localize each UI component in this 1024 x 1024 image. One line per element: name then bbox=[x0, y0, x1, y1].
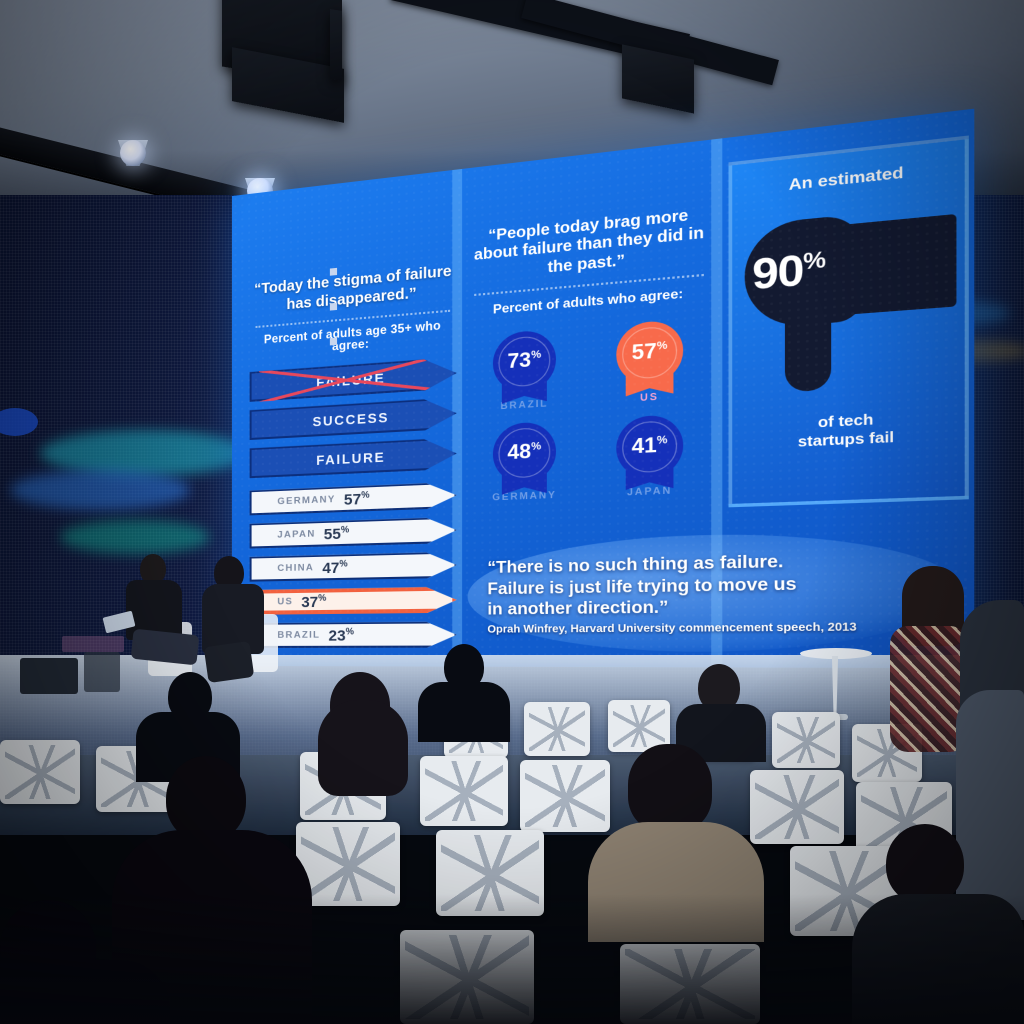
table-row: JAPAN 55% bbox=[250, 517, 457, 549]
hashtag-banner bbox=[62, 636, 124, 652]
badge-germany: 48% GERMANY bbox=[492, 421, 556, 502]
speaker-right-legs bbox=[204, 641, 255, 683]
conference-photo: “Today the stigma of failure has disappe… bbox=[0, 0, 1024, 1024]
signpost-post-1 bbox=[330, 268, 337, 276]
badge-us: 57% US bbox=[616, 319, 683, 404]
country-value: 47% bbox=[322, 558, 347, 577]
middle-panel-quote: “People today brag more about failure th… bbox=[468, 205, 712, 285]
list-item bbox=[420, 756, 508, 826]
country-label: JAPAN bbox=[277, 529, 315, 541]
thumbs-down-icon: 90% bbox=[732, 180, 964, 418]
audience-member-hair bbox=[318, 700, 408, 796]
list-item bbox=[750, 770, 844, 844]
signpost-group: FAILURE SUCCESS FAILURE bbox=[250, 357, 457, 478]
quote-attribution: Oprah Winfrey, Harvard University commen… bbox=[487, 620, 941, 635]
audience-member-body bbox=[852, 894, 1024, 1024]
signpost-label: SUCCESS bbox=[313, 409, 390, 429]
presentation-slide: “Today the stigma of failure has disappe… bbox=[232, 109, 974, 669]
stat-value: 90% bbox=[752, 245, 825, 300]
stage-monitor-speaker bbox=[84, 652, 120, 692]
rosette-icon: 57% bbox=[616, 319, 683, 386]
rosette-icon: 48% bbox=[493, 421, 556, 484]
signpost-failure: FAILURE bbox=[250, 438, 457, 479]
signpost-post-3 bbox=[330, 338, 337, 346]
rosette-icon: 73% bbox=[493, 329, 556, 394]
list-item bbox=[0, 740, 80, 804]
speaker-left-legs bbox=[131, 629, 200, 666]
badge-brazil: 73% BRAZIL bbox=[493, 329, 556, 412]
country-value: 37% bbox=[301, 592, 326, 611]
list-item bbox=[400, 930, 534, 1024]
country-value: 57% bbox=[344, 489, 370, 509]
list-item bbox=[620, 944, 760, 1024]
led-swoosh-1 bbox=[40, 430, 250, 476]
badge-value: 41% bbox=[632, 434, 668, 460]
badge-value: 48% bbox=[507, 440, 541, 465]
list-item bbox=[520, 760, 610, 832]
list-item bbox=[524, 702, 590, 756]
audience-member-body bbox=[0, 960, 170, 1024]
signpost-failure-crossed: FAILURE bbox=[250, 357, 457, 402]
slide-middle-panel: “People today brag more about failure th… bbox=[468, 205, 712, 504]
rosette-icon: 41% bbox=[616, 414, 683, 479]
pedestal-stem bbox=[828, 656, 842, 718]
audience-member-head bbox=[628, 744, 712, 832]
country-label: GERMANY bbox=[277, 494, 335, 507]
country-value: 55% bbox=[324, 524, 349, 543]
slide-right-panel: An estimated 90% of tech startups fail bbox=[729, 135, 969, 507]
middle-panel-subtitle: Percent of adults who agree: bbox=[468, 284, 712, 320]
audience-member-body bbox=[418, 682, 510, 742]
thumb-digit-shape bbox=[785, 304, 831, 392]
stage-equipment-crate bbox=[20, 658, 78, 694]
badge-japan: 41% JAPAN bbox=[616, 414, 683, 498]
audience-member-head bbox=[886, 824, 964, 904]
signpost-success: SUCCESS bbox=[250, 397, 457, 440]
badge-value: 57% bbox=[632, 340, 668, 367]
badge-grid: 73% BRAZIL 57% US bbox=[468, 317, 712, 503]
list-item bbox=[436, 830, 544, 916]
spotlight-1 bbox=[120, 140, 146, 166]
country-value: 23% bbox=[328, 626, 353, 645]
speaker-rigging bbox=[330, 9, 342, 81]
led-swoosh-2 bbox=[10, 470, 190, 510]
left-panel-quote: “Today the stigma of failure has disappe… bbox=[250, 263, 457, 318]
signpost-post-2 bbox=[330, 303, 337, 311]
standing-attendee-grey-coat bbox=[956, 690, 1024, 920]
table-row: GERMANY 57% bbox=[250, 482, 457, 516]
audience-member-body bbox=[588, 822, 764, 942]
bottom-quote-block: “There is no such thing as failure. Fail… bbox=[487, 547, 941, 635]
list-item bbox=[772, 712, 840, 768]
signpost-label: FAILURE bbox=[316, 449, 385, 468]
badge-value: 73% bbox=[507, 349, 541, 375]
